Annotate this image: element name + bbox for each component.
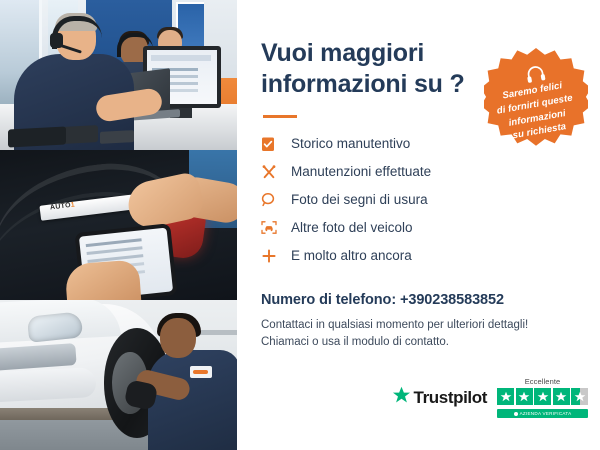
rating-star-2: [516, 388, 533, 405]
clipboard-check-icon: [261, 136, 285, 152]
feature-item-manutenzioni-effettuate: Manutenzioni effettuate: [261, 158, 576, 186]
car-bumper: [0, 367, 97, 403]
feature-item-molto-altro: E molto altro ancora: [261, 242, 576, 270]
plus-icon: [261, 248, 285, 264]
mechanic-body: [148, 350, 237, 450]
trustpilot-star-icon: [392, 386, 411, 410]
paint-inspection-photo: AUTO1: [0, 150, 237, 300]
content-panel: Vuoi maggiori informazioni su ? Saremo f…: [237, 0, 600, 450]
rating-star-1: [497, 388, 514, 405]
headline-line-1: Vuoi maggiori: [261, 39, 424, 67]
feature-label: E molto altro ancora: [285, 248, 412, 263]
trustpilot-wordmark: Trustpilot: [414, 388, 487, 408]
title-underline-rule: [263, 115, 297, 118]
feature-item-altre-foto-veicolo: Altre foto del veicolo: [261, 214, 576, 242]
trustpilot-rating-label: Eccellente: [525, 377, 561, 386]
trustpilot-logo: Trustpilot: [392, 386, 487, 410]
tools-cross-icon: [261, 164, 285, 180]
trustpilot-rating: Eccellente: [497, 377, 588, 418]
magnifier-icon: [261, 192, 285, 207]
contact-description: Contattaci in qualsiasi momento per ulte…: [261, 317, 576, 352]
feature-label: Foto dei segni di usura: [285, 192, 428, 207]
contact-information-poster: AUTO1: [0, 0, 600, 450]
rating-star-4: [553, 388, 570, 405]
callout-badge: Saremo felici di fornirti queste informa…: [484, 48, 588, 152]
page-title: Vuoi maggiori informazioni su ?: [261, 38, 476, 101]
feature-label: Altre foto del veicolo: [285, 220, 413, 235]
trustpilot-verified-badge: AZIENDA VERIFICATA: [497, 409, 588, 418]
rating-star-5-half: [571, 388, 588, 405]
trustpilot-star-rating: [497, 388, 588, 405]
contact-copy-line-2: Chiamaci o usa il modulo di contatto.: [261, 334, 576, 351]
desk-tablet: [8, 126, 66, 147]
contact-copy-line-1: Contattaci in qualsiasi momento per ulte…: [261, 317, 576, 334]
feature-item-foto-segni-usura: Foto dei segni di usura: [261, 186, 576, 214]
keyboard-2: [100, 130, 134, 144]
car-frame-icon: [261, 220, 285, 235]
mechanic-head: [160, 318, 196, 358]
headline-line-2: informazioni su ?: [261, 70, 465, 98]
photo-column: AUTO1: [0, 0, 237, 450]
verified-label: AZIENDA VERIFICATA: [520, 411, 572, 416]
trustpilot-widget[interactable]: Trustpilot Eccellente: [392, 377, 588, 418]
phone-label: Numero di telefono:: [261, 292, 396, 308]
wheel-inspection-photo: [0, 300, 237, 450]
mechanic-uniform-badge: [190, 366, 212, 378]
feature-label: Manutenzioni effettuate: [285, 164, 431, 179]
rating-star-3: [534, 388, 551, 405]
phone-number[interactable]: +390238583852: [400, 292, 504, 308]
feature-label: Storico manutentivo: [285, 136, 410, 151]
call-center-agents-photo: [0, 0, 237, 150]
verified-check-icon: [514, 412, 518, 416]
phone-number-line: Numero di telefono: +390238583852: [261, 292, 576, 308]
